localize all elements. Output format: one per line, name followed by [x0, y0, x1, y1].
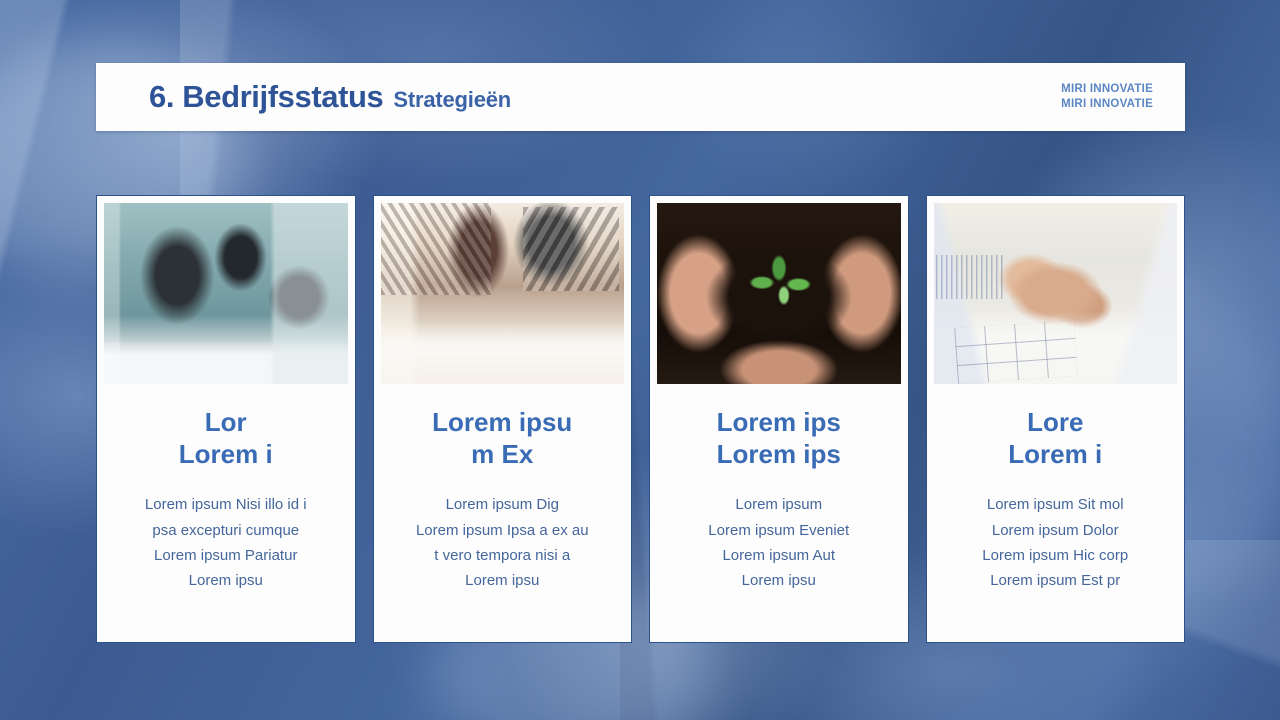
presentation-slide: 6. Bedrijfsstatus Strategieën MIRI INNOV… [0, 0, 1280, 720]
card-body-text: Lorem ipsum Lorem ipsum Eveniet Lorem ip… [696, 492, 861, 593]
slide-header-bar: 6. Bedrijfsstatus Strategieën MIRI INNOV… [96, 63, 1185, 131]
page-title-main: 6. Bedrijfsstatus [149, 79, 383, 115]
brand-logo-text: MIRI INNOVATIE MIRI INNOVATIE [1061, 82, 1153, 112]
page-title-subtitle: Strategieën [393, 87, 511, 113]
card-body-text: Lorem ipsum Sit mol Lorem ipsum Dolor Lo… [970, 492, 1140, 593]
card-body-text: Lorem ipsum Dig Lorem ipsum Ipsa a ex au… [404, 492, 601, 593]
content-card[interactable]: Lorem ipsu m Ex Lorem ipsum Dig Lorem ip… [373, 195, 633, 643]
content-card[interactable]: Lorem ips Lorem ips Lorem ipsum Lorem ip… [649, 195, 909, 643]
office-team-meeting-photo [104, 203, 348, 384]
content-card[interactable]: Lor Lorem i Lorem ipsum Nisi illo id i p… [96, 195, 356, 643]
brand-line-secondary: MIRI INNOVATIE [1061, 97, 1153, 112]
page-title: 6. Bedrijfsstatus Strategieën [149, 79, 511, 115]
content-card[interactable]: Lore Lorem i Lorem ipsum Sit mol Lorem i… [926, 195, 1186, 643]
card-heading: Lore Lorem i [1002, 406, 1108, 470]
content-card-row: Lor Lorem i Lorem ipsum Nisi illo id i p… [96, 195, 1185, 643]
photo-fill [381, 203, 625, 384]
card-heading: Lor Lorem i [173, 406, 279, 470]
card-body-text: Lorem ipsum Nisi illo id i psa excepturi… [133, 492, 319, 593]
blueprint-grid-detail [954, 320, 1078, 384]
architects-blueprint-photo [381, 203, 625, 384]
photo-fill [104, 203, 348, 384]
brand-line-primary: MIRI INNOVATIE [1061, 82, 1153, 97]
photo-fill [657, 203, 901, 384]
card-heading: Lorem ipsu m Ex [426, 406, 578, 470]
card-heading: Lorem ips Lorem ips [711, 406, 847, 470]
hands-soil-seedling-photo [657, 203, 901, 384]
teamwork-stacked-hands-photo [934, 203, 1178, 384]
